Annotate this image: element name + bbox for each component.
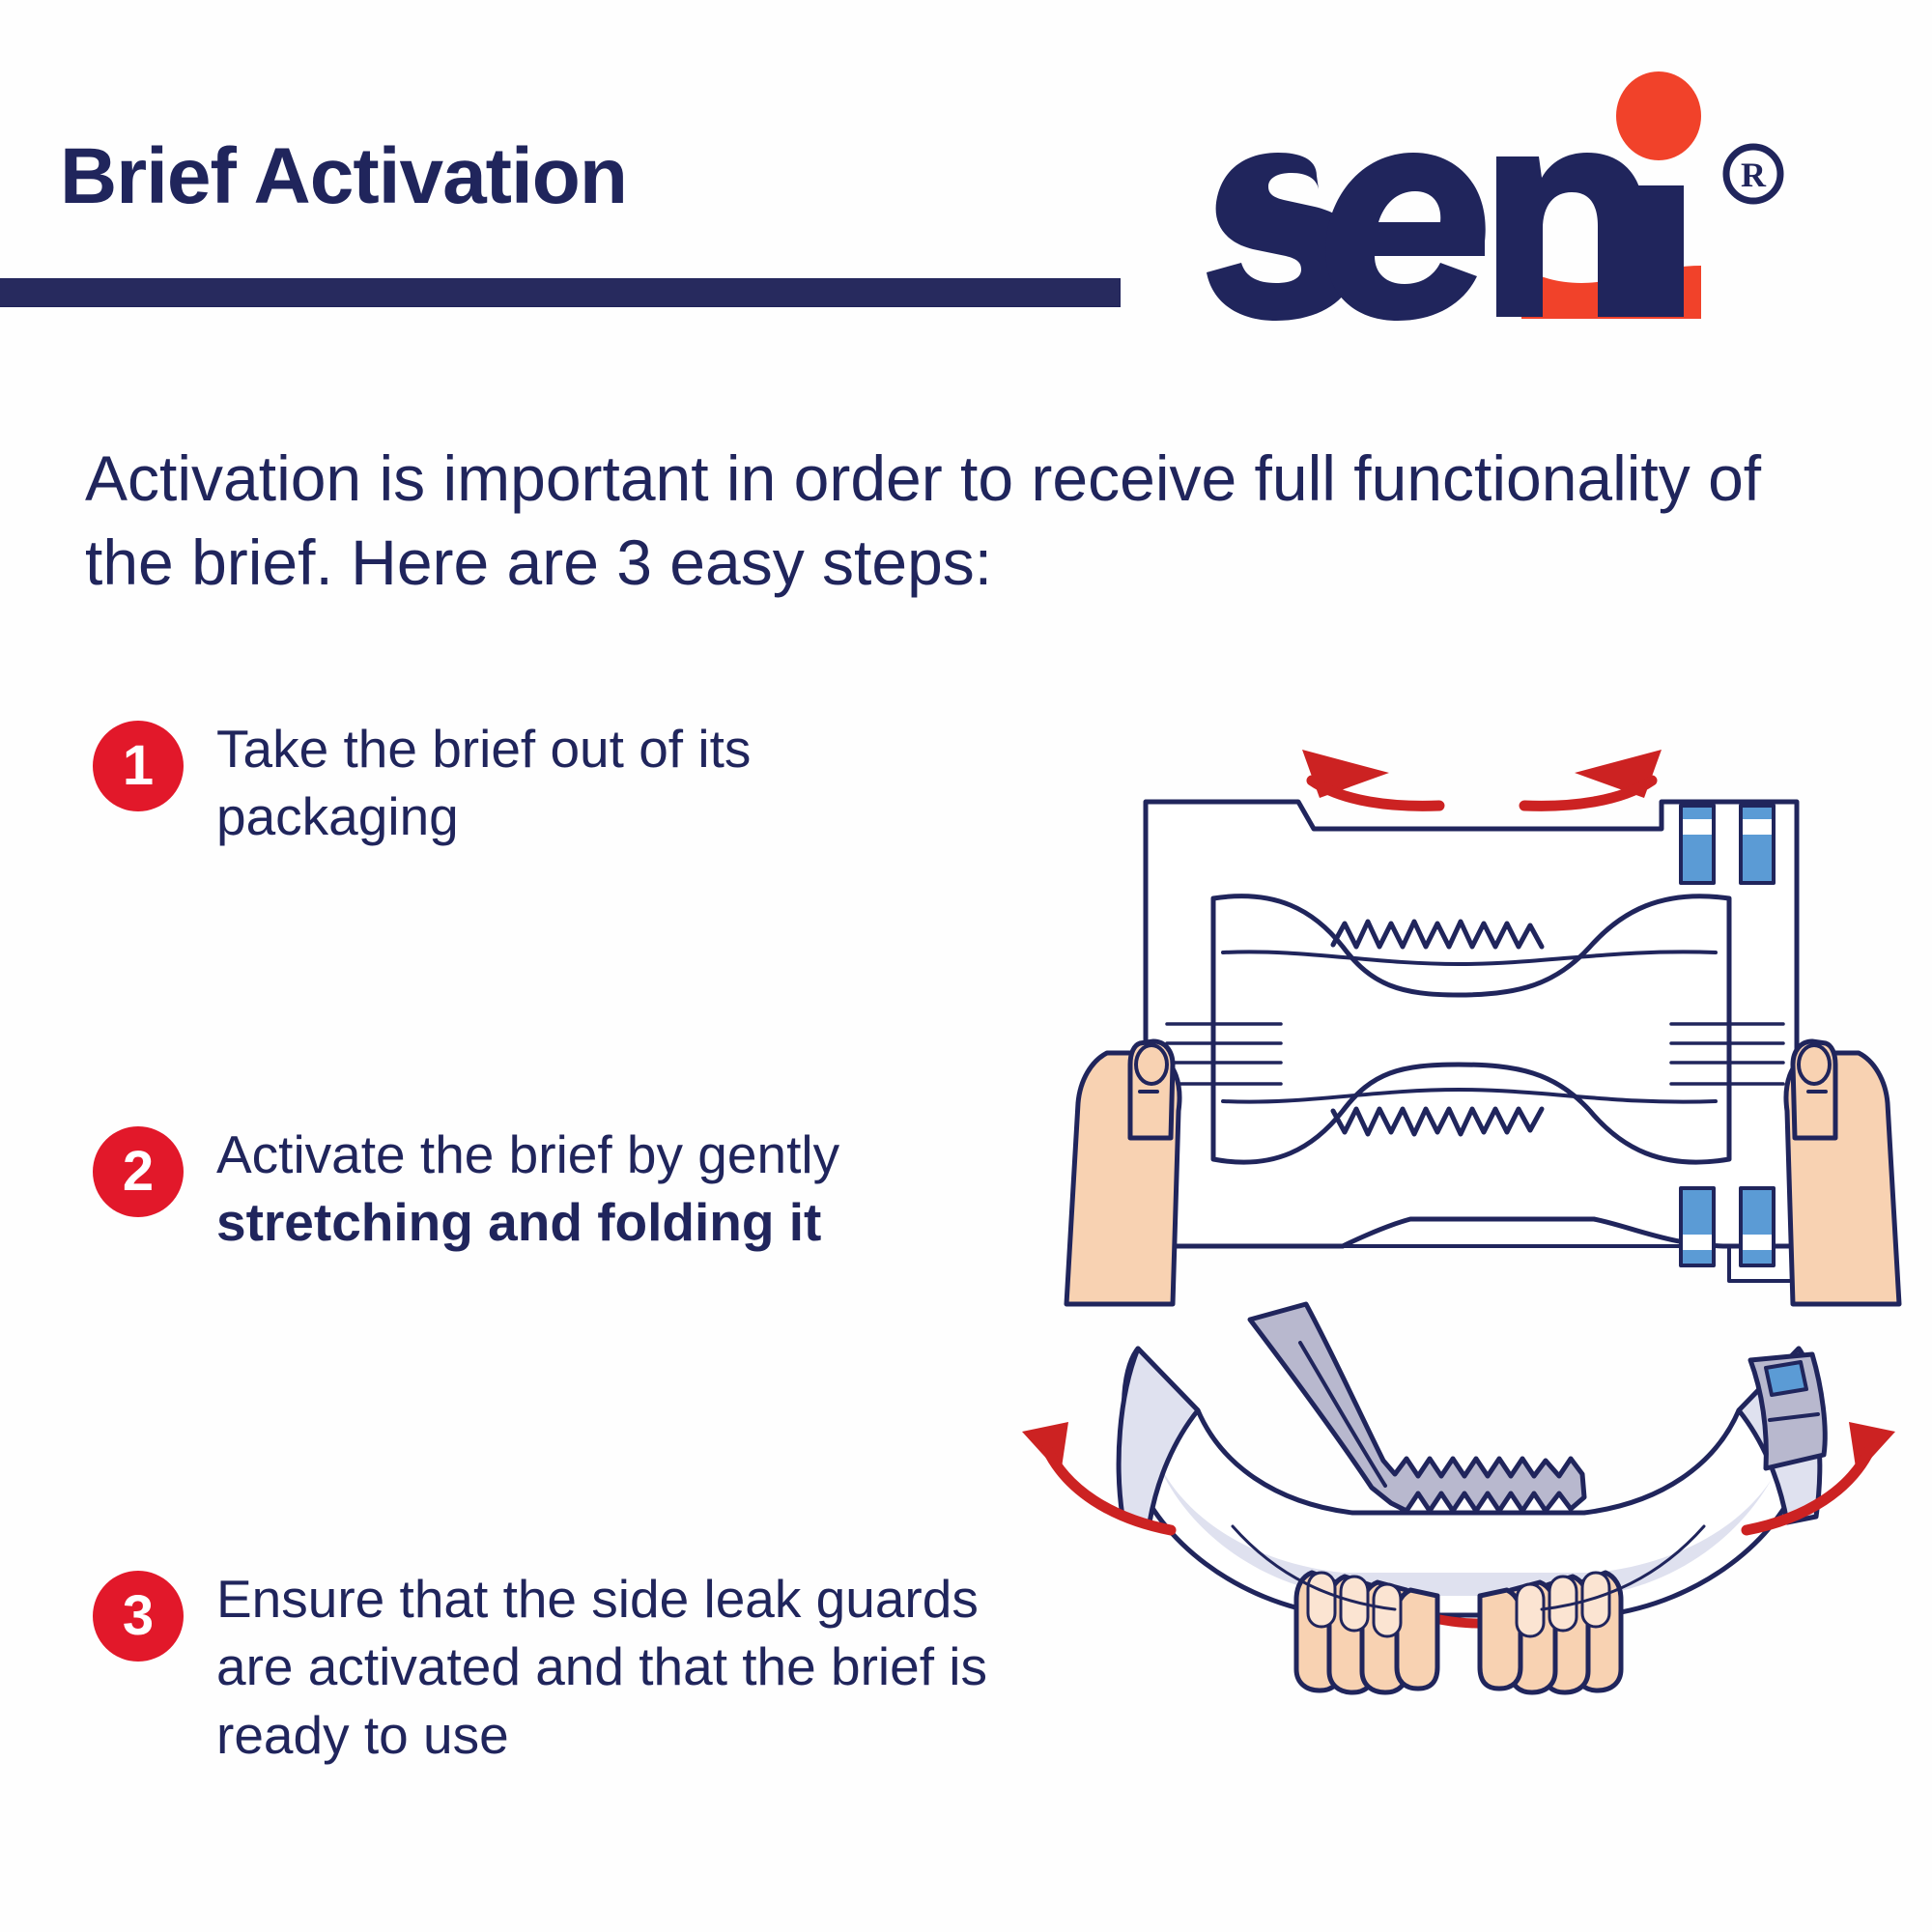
fastening-tab-upper-2: [1741, 806, 1774, 883]
logo-letter-i: [1637, 185, 1684, 317]
step-text-3: Ensure that the side leak guards are act…: [216, 1565, 989, 1769]
page-title: Brief Activation: [60, 137, 627, 216]
step-item-2: 2 Activate the brief by gently stretchin…: [93, 1121, 989, 1257]
title-underline-rule: [0, 278, 1121, 307]
step-item-3: 3 Ensure that the side leak guards are a…: [93, 1565, 989, 1769]
brief-stretching-illustration: [1053, 705, 1913, 1314]
hand-right-icon: [1786, 1041, 1899, 1304]
step-text-2-lead: Activate the brief by gently: [216, 1124, 839, 1184]
arrow-right-icon: [1524, 750, 1662, 806]
hand-left-fingers-icon: [1296, 1573, 1437, 1692]
step-text-2-emphasis: stretching and folding it: [216, 1192, 821, 1252]
logo-dot-icon: [1616, 71, 1701, 160]
step-text-2: Activate the brief by gently stretching …: [216, 1121, 989, 1257]
infographic-page: Brief Activation R Activation is importa…: [0, 0, 1932, 1932]
step-text-1: Take the brief out of its packaging: [216, 715, 989, 851]
step-text-3-lead: Ensure that the side leak guards are act…: [216, 1569, 987, 1765]
step-text-1-lead: Take the brief out of its packaging: [216, 719, 751, 846]
logo-letter-e: [1325, 153, 1485, 321]
fastening-tab-lower-1: [1681, 1188, 1714, 1265]
brief-folding-illustration: [1005, 1294, 1913, 1777]
fastening-tab-lower-2: [1741, 1188, 1774, 1265]
step-item-1: 1 Take the brief out of its packaging: [93, 715, 989, 851]
step-number-badge-1: 1: [93, 721, 184, 811]
intro-paragraph: Activation is important in order to rece…: [85, 437, 1804, 605]
side-leak-guard: [1250, 1304, 1584, 1511]
hand-left-icon: [1066, 1041, 1179, 1304]
step-number-badge-2: 2: [93, 1126, 184, 1217]
svg-text:R: R: [1741, 156, 1767, 194]
step-number-badge-3: 3: [93, 1571, 184, 1662]
arrow-left-icon: [1302, 750, 1439, 806]
fastening-tab-blue: [1766, 1362, 1806, 1395]
hand-right-fingers-icon: [1480, 1573, 1621, 1692]
registered-trademark-icon: R: [1726, 147, 1780, 201]
fastening-tab-upper-1: [1681, 806, 1714, 883]
seni-logo: R: [1203, 70, 1821, 330]
